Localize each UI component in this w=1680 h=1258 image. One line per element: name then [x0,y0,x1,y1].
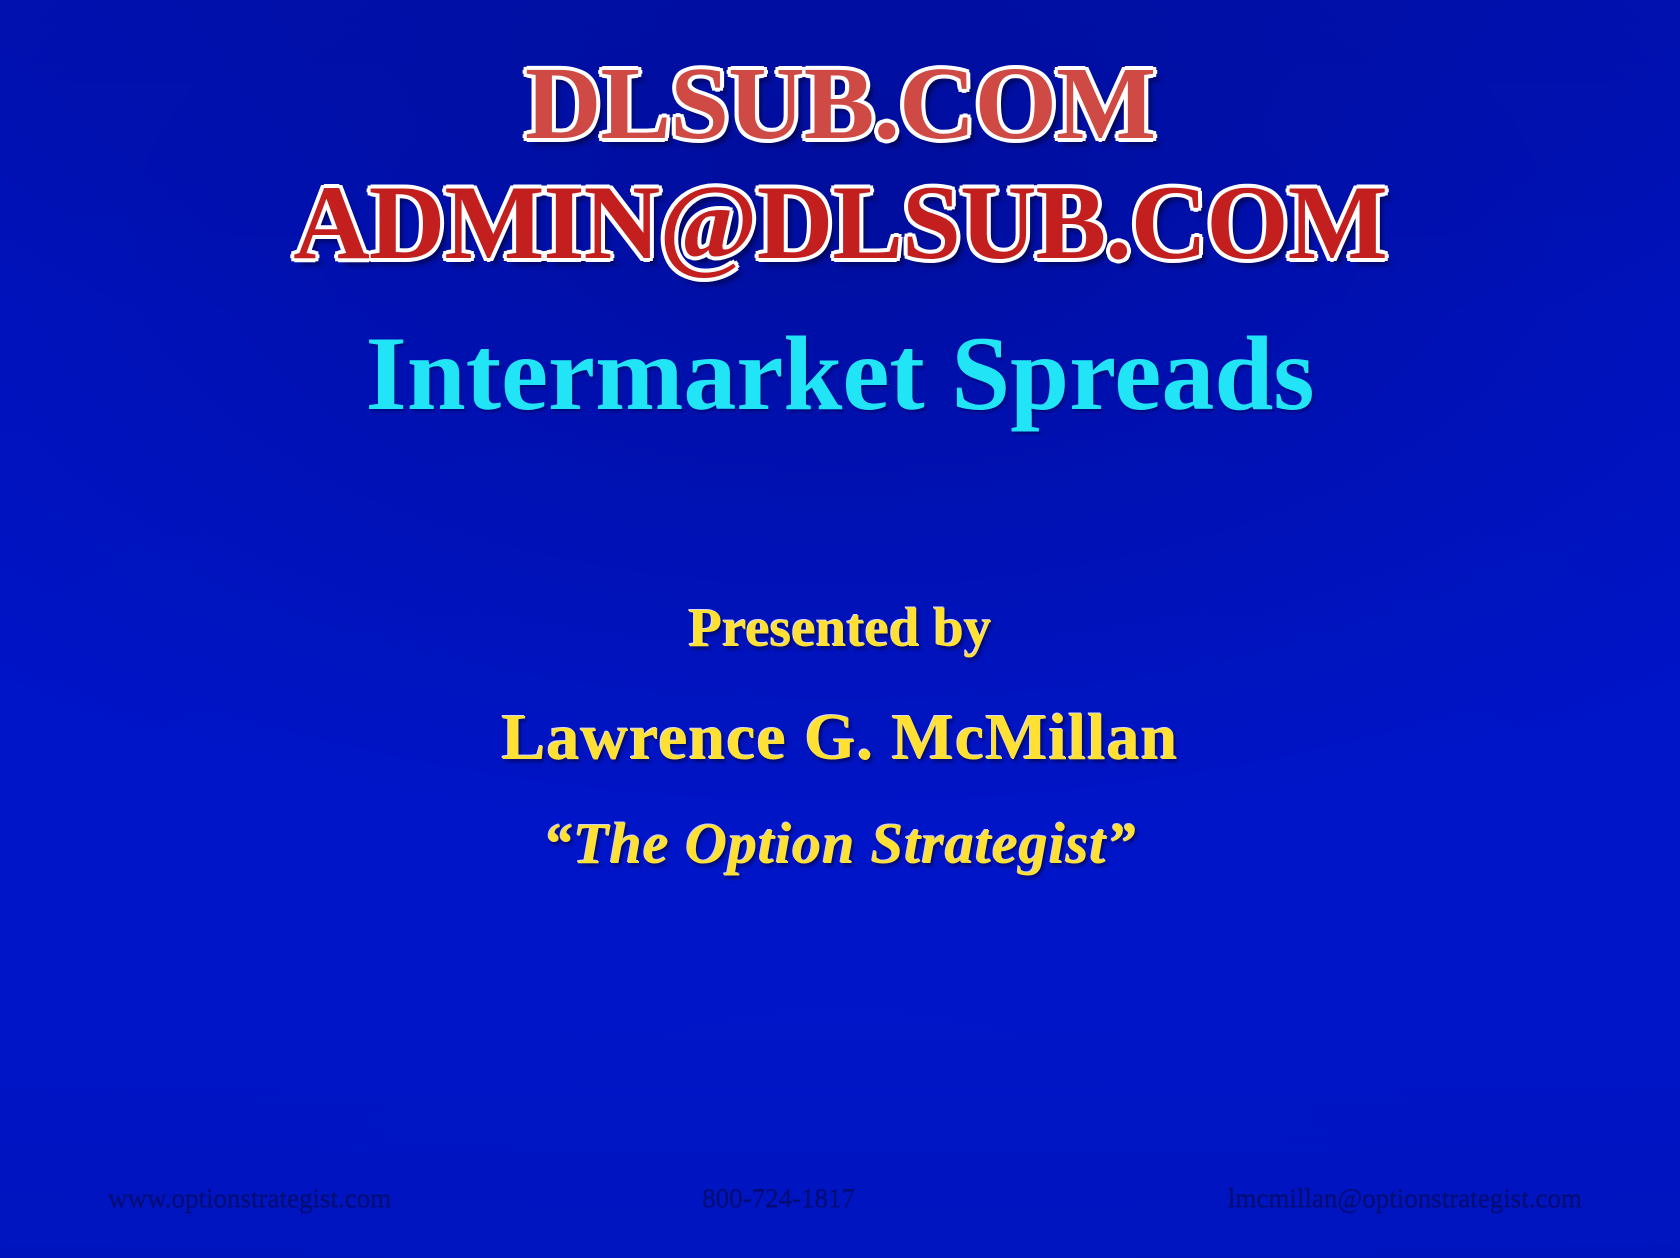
watermark-site-text: DLSUB.COM [0,52,1680,156]
watermark-email-text: ADMIN@DLSUB.COM [0,170,1680,276]
presentation-slide: DLSUB.COM ADMIN@DLSUB.COM Intermarket Sp… [0,0,1680,1258]
slide-footer: www.optionstrategist.com 800-724-1817 lm… [108,1185,1572,1212]
footer-email: lmcmillan@optionstrategist.com [1228,1185,1582,1212]
watermark-overlay: DLSUB.COM ADMIN@DLSUB.COM [0,52,1680,276]
slide-title: Intermarket Spreads [0,318,1680,429]
presenter-name: Lawrence G. McMillan [0,705,1680,771]
footer-website: www.optionstrategist.com [108,1185,391,1212]
presenter-epithet: “The Option Strategist” [0,815,1680,873]
presented-by-label: Presented by [0,600,1680,655]
footer-phone: 800-724-1817 [702,1185,855,1212]
presenter-block: Presented by Lawrence G. McMillan “The O… [0,600,1680,873]
